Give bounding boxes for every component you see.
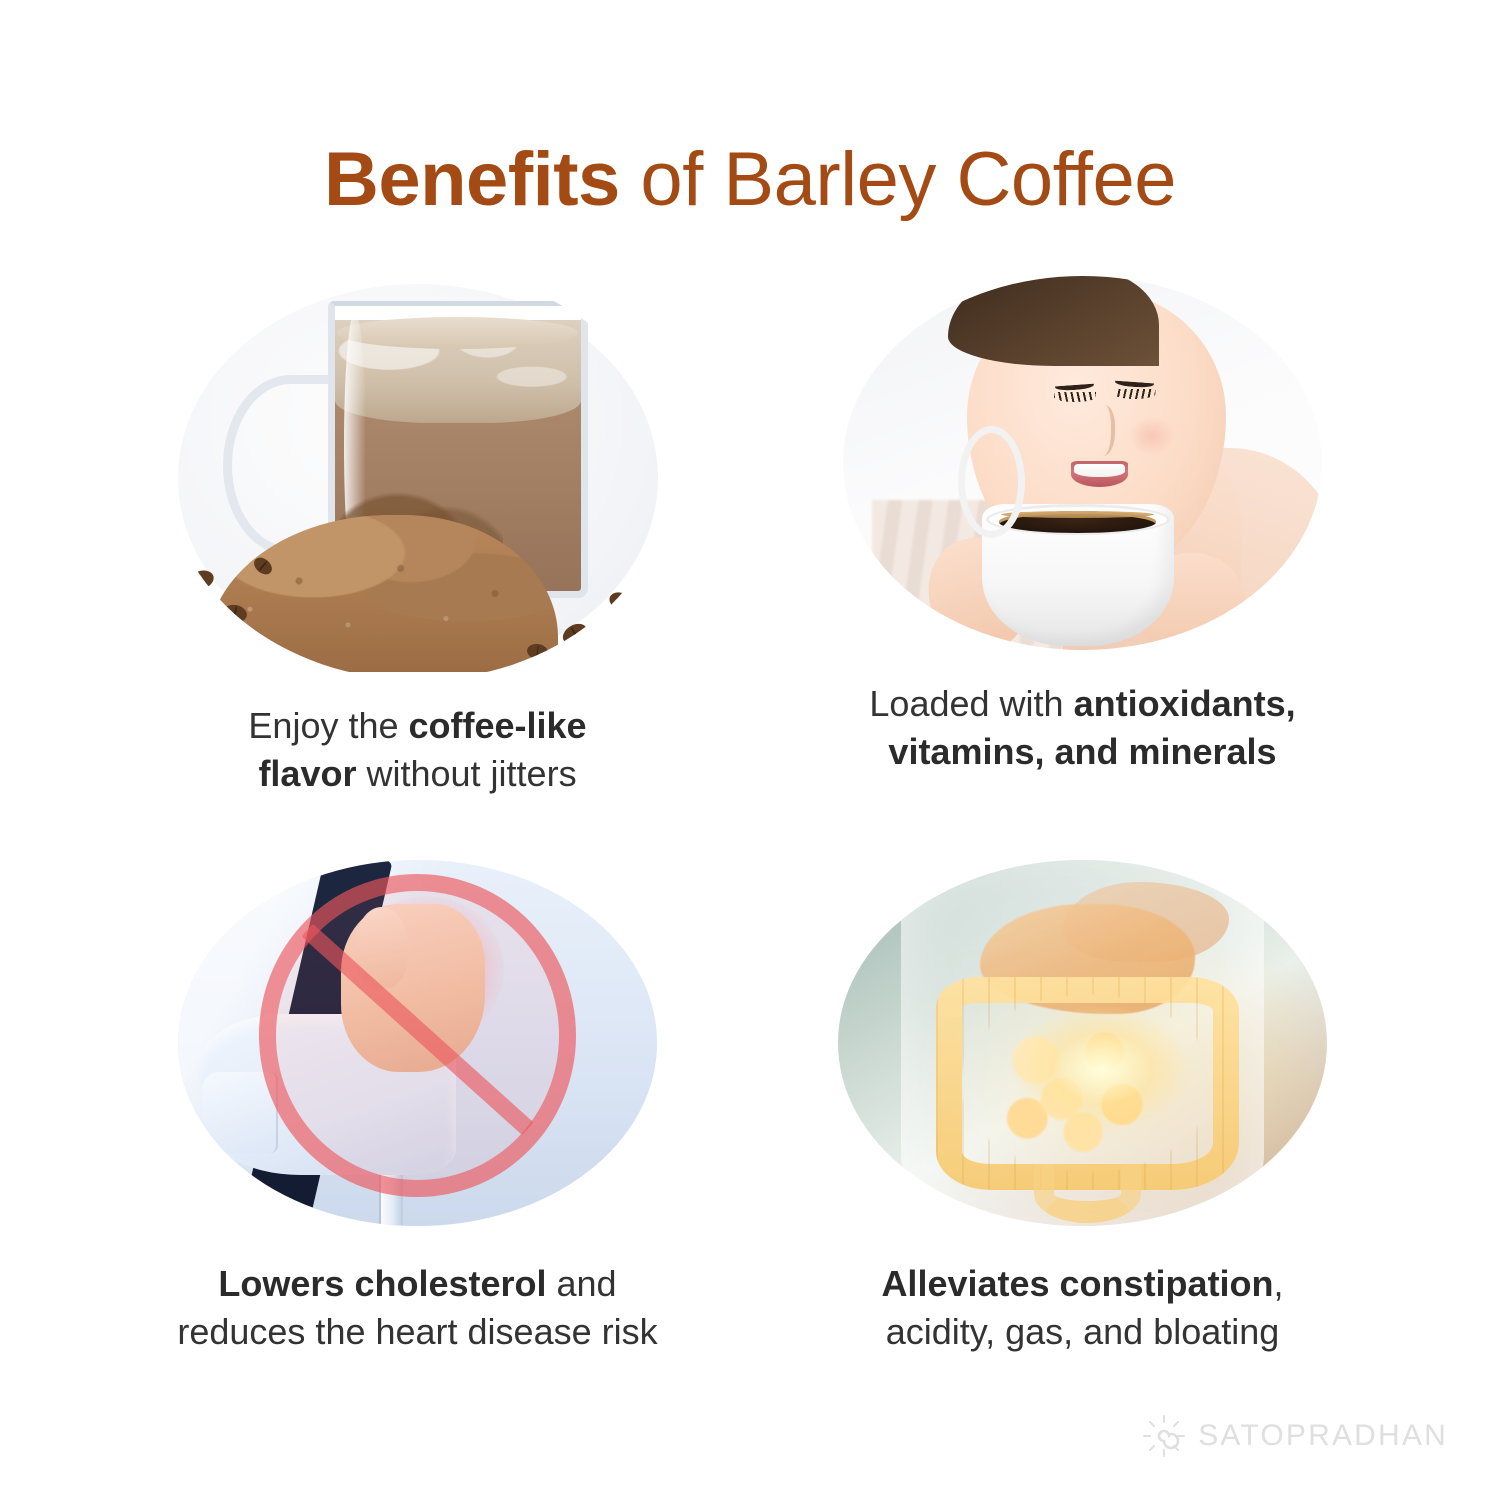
benefit-card-coffee-like-flavor: Enjoy the coffee-like flavor without jit… — [95, 268, 740, 828]
caption-text-regular: and — [547, 1263, 617, 1304]
brand-name: SATOPRADHAN — [1198, 1419, 1448, 1453]
caption-text-regular: Loaded with — [869, 683, 1073, 724]
image-backdrop-disc — [838, 860, 1328, 1227]
benefit-card-antioxidants: Loaded with antioxidants, vitamins, and … — [760, 268, 1405, 828]
eyelash-right — [1114, 389, 1155, 399]
benefits-grid: Enjoy the coffee-like flavor without jit… — [95, 268, 1405, 1408]
smiling-mouth — [1071, 461, 1128, 487]
benefit-card-lowers-cholesterol: Lowers cholesterol and reduces the heart… — [95, 848, 740, 1408]
page-title: Benefits of Barley Coffee — [0, 140, 1500, 220]
caption-text-regular: acidity, gas, and bloating — [886, 1311, 1280, 1352]
caption-text-bold: Alleviates constipation — [881, 1263, 1273, 1304]
coffee-crema — [1001, 511, 1154, 518]
eyelash-left — [1054, 392, 1095, 402]
benefit-card-alleviates-constipation: Alleviates constipation, acidity, gas, a… — [760, 848, 1405, 1408]
rectum — [1034, 1164, 1142, 1223]
woman-hair — [948, 276, 1159, 366]
caption-text-bold: Lowers cholesterol — [218, 1263, 546, 1304]
caption-text-regular: Enjoy the — [248, 705, 408, 746]
caption-text-regular: without jitters — [356, 753, 576, 794]
caption-text-bold: vitamins, and minerals — [888, 731, 1276, 772]
caption-text-regular: , — [1274, 1263, 1284, 1304]
benefit-image-digestive-system — [828, 848, 1338, 1238]
caption-text-bold: antioxidants, — [1074, 683, 1296, 724]
nose — [1089, 405, 1115, 456]
closed-eye-left — [1055, 380, 1094, 391]
benefit-caption: Lowers cholesterol and reduces the heart… — [158, 1260, 678, 1356]
image-backdrop-disc — [843, 276, 1322, 650]
benefit-caption: Loaded with antioxidants, vitamins, and … — [823, 680, 1343, 776]
cup-handle — [958, 426, 1025, 538]
cheek-blush — [1128, 416, 1175, 456]
teeth — [1074, 464, 1124, 477]
page-title-light: of Barley Coffee — [620, 137, 1176, 222]
image-backdrop-disc — [178, 860, 657, 1227]
benefit-caption: Enjoy the coffee-like flavor without jit… — [158, 702, 678, 798]
brand-watermark: SATOPRADHAN — [1142, 1414, 1448, 1458]
benefit-image-woman-drinking-coffee — [828, 268, 1338, 658]
benefit-caption: Alleviates constipation, acidity, gas, a… — [823, 1260, 1343, 1356]
foam-surface — [337, 317, 578, 348]
closed-eye-right — [1115, 378, 1154, 389]
benefit-image-chest-pain-prohibited — [163, 848, 673, 1238]
caption-text-bold: coffee-like — [409, 705, 587, 746]
digestive-glow — [1014, 1006, 1190, 1131]
infographic-canvas: Benefits of Barley Coffee — [0, 0, 1500, 1500]
sun-spiral-icon — [1142, 1414, 1186, 1458]
page-title-strong: Benefits — [324, 137, 620, 222]
caption-text-bold: flavor — [258, 753, 356, 794]
caption-text-regular: reduces the heart disease risk — [177, 1311, 657, 1352]
benefit-image-barley-coffee-mug — [168, 268, 668, 680]
